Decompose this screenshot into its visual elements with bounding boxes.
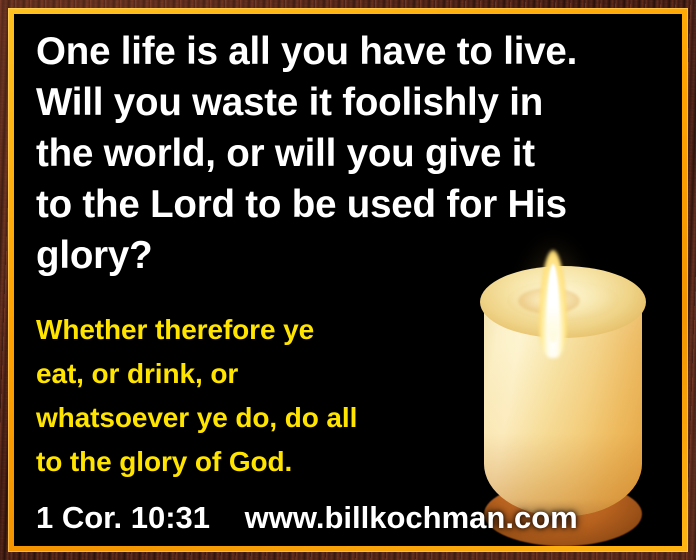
headline-line-1: One life is all you have to live. xyxy=(36,26,672,77)
headline-line-5: glory? xyxy=(36,230,672,281)
verse-line-2: eat, or drink, or xyxy=(36,352,456,396)
verse-line-1: Whether therefore ye xyxy=(36,308,456,352)
headline-line-4: to the Lord to be used for His xyxy=(36,179,672,230)
verse-line-4: to the glory of God. xyxy=(36,440,456,484)
candle-body xyxy=(484,298,642,516)
scripture-reference: 1 Cor. 10:31 xyxy=(36,500,210,535)
credit-line: 1 Cor. 10:31 www.billkochman.com xyxy=(36,498,676,538)
headline-line-3: the world, or will you give it xyxy=(36,128,672,179)
scripture-poster: One life is all you have to live. Will y… xyxy=(0,0,696,560)
candle-wax-pool xyxy=(518,288,580,314)
scripture-verse: Whether therefore ye eat, or drink, or w… xyxy=(36,308,456,484)
website-url[interactable]: www.billkochman.com xyxy=(245,500,578,535)
poster-canvas: One life is all you have to live. Will y… xyxy=(14,14,682,546)
verse-line-3: whatsoever ye do, do all xyxy=(36,396,456,440)
headline-message: One life is all you have to live. Will y… xyxy=(36,26,672,281)
candle-wick xyxy=(550,328,556,350)
headline-line-2: Will you waste it foolishly in xyxy=(36,77,672,128)
